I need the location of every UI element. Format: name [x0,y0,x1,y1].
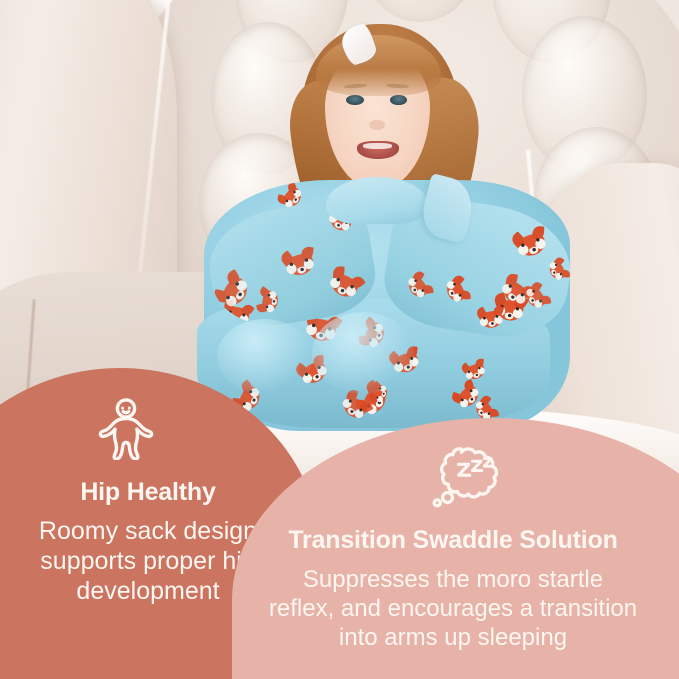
infographic-stage: Hip Healthy Roomy sack design supports p… [0,0,679,679]
panel-title-transition-swaddle: Transition Swaddle Solution [288,526,617,555]
panel-title-hip-healthy: Hip Healthy [80,478,215,507]
knee-highlight [217,319,312,394]
fox-print-motif [459,357,491,386]
fox-print-motif [439,271,473,308]
knee-highlight [312,312,414,393]
fox-print-motif [543,255,572,287]
teeth [363,143,393,148]
fox-print-motif [322,263,369,306]
sleep-thought-bubble-zzz-icon [429,446,507,512]
panel-body-transition-swaddle: Suppresses the moro startle reflex, and … [267,566,639,652]
fox-print-motif [278,245,323,283]
panel-body-hip-healthy: Roomy sack design supports proper hip de… [38,516,258,606]
fox-print-motif [256,285,283,317]
fox-print-motif [474,305,508,333]
fox-print-motif [509,223,555,264]
fox-print-motif [400,268,436,305]
baby-outline-icon [98,398,154,460]
